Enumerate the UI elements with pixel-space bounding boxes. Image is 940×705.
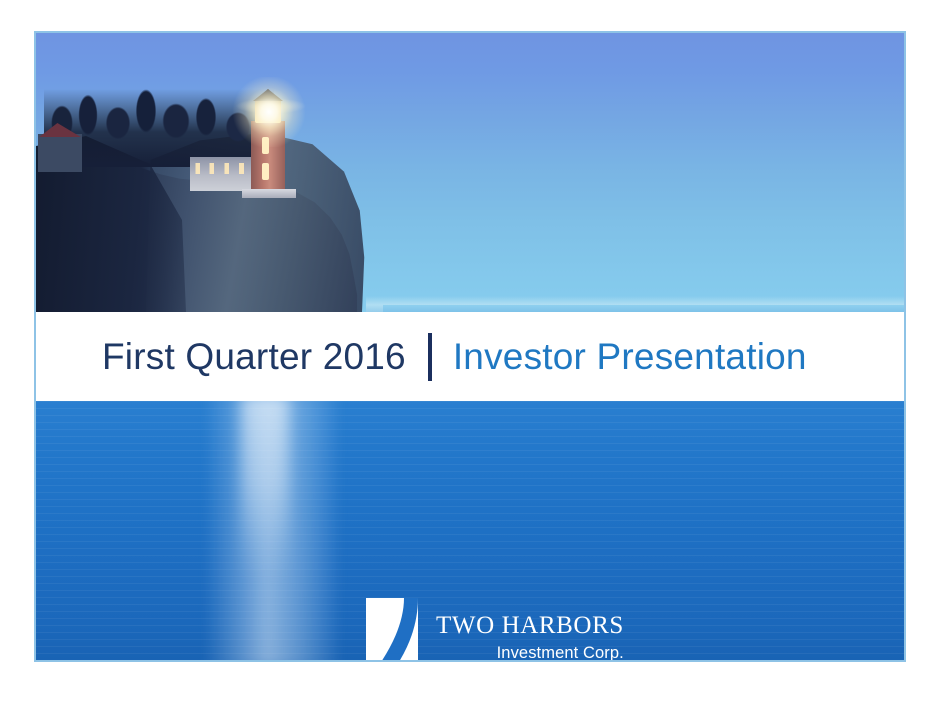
title-inner: First Quarter 2016 Investor Presentation bbox=[102, 333, 807, 381]
moonlight-reflection-core bbox=[241, 401, 289, 581]
presentation-slide: First Quarter 2016 Investor Presentation… bbox=[34, 31, 906, 662]
logo-division-name: Investment Corp. bbox=[436, 645, 624, 660]
two-harbors-logo-mark-icon bbox=[364, 596, 420, 660]
distant-sea-strip bbox=[383, 305, 904, 312]
water-photo: TWO HARBORS Investment Corp. A Pine Rive… bbox=[36, 401, 904, 660]
slide-canvas: First Quarter 2016 Investor Presentation… bbox=[36, 33, 904, 660]
title-divider-icon bbox=[428, 333, 432, 381]
lighthouse-photo bbox=[36, 33, 904, 312]
page-title-secondary: Investor Presentation bbox=[453, 336, 807, 378]
lighthouse-lantern-room bbox=[255, 99, 281, 123]
page-title-primary: First Quarter 2016 bbox=[102, 336, 406, 378]
logo-wordmark: TWO HARBORS Investment Corp. A Pine Rive… bbox=[436, 596, 624, 660]
logo-company-name: TWO HARBORS bbox=[436, 613, 624, 638]
ridge-house bbox=[38, 134, 82, 172]
lighthouse-tower-base bbox=[242, 189, 296, 198]
lighthouse-tower bbox=[251, 121, 285, 195]
title-band: First Quarter 2016 Investor Presentation bbox=[36, 312, 904, 401]
company-logo: TWO HARBORS Investment Corp. A Pine Rive… bbox=[364, 596, 624, 660]
moonlight-reflection bbox=[204, 401, 342, 660]
